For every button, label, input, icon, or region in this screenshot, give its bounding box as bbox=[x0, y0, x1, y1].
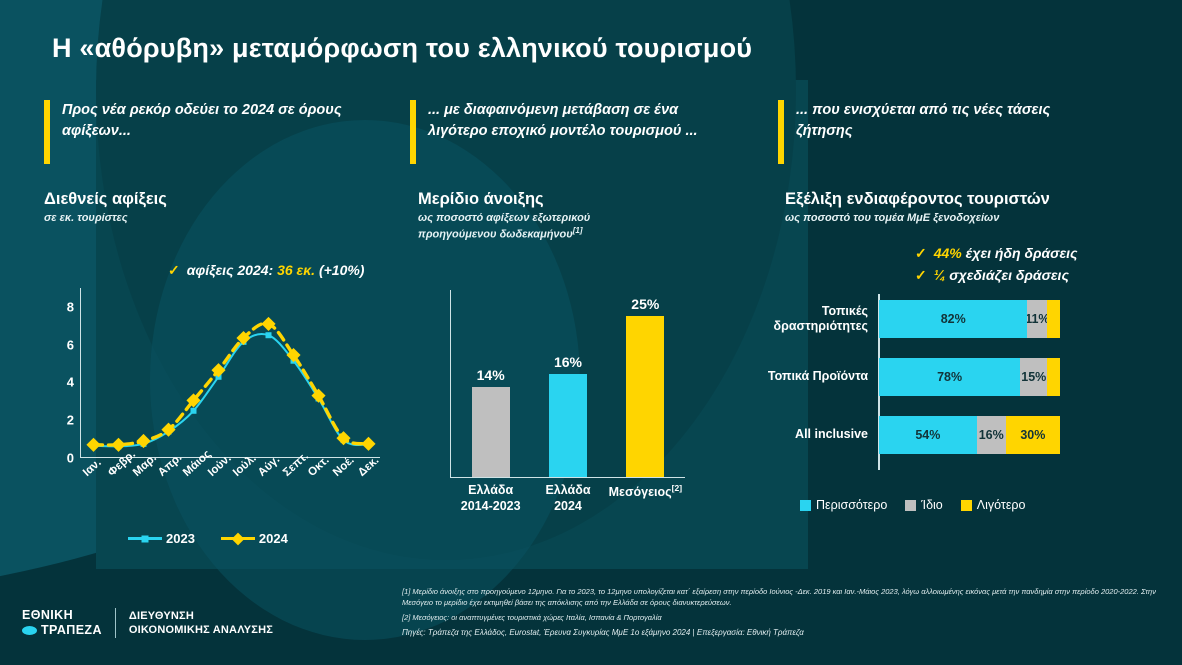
panel-subtitle: ως ποσοστό του τομέα ΜμΕ ξενοδοχείων bbox=[785, 211, 1050, 226]
bar-category-text: Μεσόγειος bbox=[609, 485, 672, 499]
annotation-highlight: 44% bbox=[934, 245, 962, 261]
ellipse-icon bbox=[22, 626, 37, 635]
legend-label: Λιγότερο bbox=[977, 498, 1026, 512]
annotation-highlight: ¼ bbox=[934, 267, 946, 283]
stacked-bar-segment-Ίδιο[interactable]: 15% bbox=[1020, 358, 1047, 396]
bar-chart-spring-share: 14%16%25% bbox=[450, 288, 685, 478]
callout-seasonality: ... με διαφαινόμενη μετάβαση σε ένα λιγό… bbox=[410, 100, 733, 164]
annotation-post: (+10%) bbox=[315, 262, 364, 278]
panel-title: Διεθνείς αφίξεις bbox=[44, 190, 167, 209]
callout-text: ... με διαφαινόμενη μετάβαση σε ένα λιγό… bbox=[428, 100, 733, 142]
panel-subtitle: σε εκ. τουρίστες bbox=[44, 211, 167, 226]
stacked-chart-legend: ΠερισσότεροΊδιοΛιγότερο bbox=[800, 498, 1025, 512]
panel-subtitle-line1: ως ποσοστό αφίξεων εξωτερικού bbox=[418, 212, 590, 224]
bar-column[interactable]: 25% bbox=[626, 291, 664, 477]
bar-category-label: Μεσόγειος[2] bbox=[607, 483, 684, 514]
logo-department: ΔΙΕΥΘΥΝΣΗ ΟΙΚΟΝΟΜΙΚΗΣ ΑΝΑΛΥΣΗΣ bbox=[129, 609, 273, 638]
stacked-bar-track: 78%15% bbox=[878, 358, 1060, 396]
bar-chart-bars: 14%16%25% bbox=[452, 291, 684, 477]
legend-label: Περισσότερο bbox=[816, 498, 887, 512]
stacked-bar-segment-Ίδιο[interactable]: 11% bbox=[1027, 300, 1047, 338]
callout-text: Προς νέα ρεκόρ οδεύει το 2024 σε όρους α… bbox=[62, 100, 367, 142]
legend-color-swatch bbox=[905, 500, 916, 511]
legend-item-Λιγότερο[interactable]: Λιγότερο bbox=[961, 498, 1026, 512]
callout-text: ... που ενισχύεται από τις νέες τάσεις ζ… bbox=[796, 100, 1101, 142]
bar-rect[interactable] bbox=[626, 316, 664, 476]
data-point-marker bbox=[136, 434, 150, 448]
line-chart-svg bbox=[81, 288, 381, 458]
check-icon: ✓ bbox=[168, 260, 180, 282]
line-chart-plot-area bbox=[80, 288, 380, 458]
logo-line2: ΤΡΑΠΕΖΑ bbox=[41, 623, 102, 638]
panel-title: Εξέλιξη ενδιαφέροντος τουριστών bbox=[785, 190, 1050, 209]
data-point-marker bbox=[266, 332, 272, 338]
line-series-2023 bbox=[94, 334, 369, 446]
line-chart-arrivals: 02468 bbox=[48, 288, 388, 468]
logo-line1: ΕΘΝΙΚΗ bbox=[22, 608, 102, 623]
stacked-bar-chart-interest: Τοπικέςδραστηριότητες82%11%Τοπικά Προϊόν… bbox=[760, 300, 1070, 470]
stacked-bar-segment-Ίδιο[interactable]: 16% bbox=[977, 416, 1006, 454]
panel-title: Μερίδιο άνοιξης bbox=[418, 190, 590, 209]
stacked-bar-category-label: All inclusive bbox=[760, 427, 878, 442]
stacked-bar-segment-Λιγότερο[interactable] bbox=[1047, 300, 1060, 338]
callout-accent-bar bbox=[44, 100, 50, 164]
annotation-row: ✓ ¼ σχεδιάζει δράσεις bbox=[915, 265, 1078, 287]
y-axis-tick-label: 0 bbox=[67, 451, 74, 466]
data-point-marker bbox=[191, 408, 197, 414]
annotation-text: αφίξεις 2024: 36 εκ. (+10%) bbox=[187, 260, 365, 282]
legend-color-swatch bbox=[961, 500, 972, 511]
bar-category-label: Ελλάδα2014-2023 bbox=[452, 483, 529, 514]
legend-label: 2024 bbox=[259, 531, 288, 546]
bar-category-label: Ελλάδα2024 bbox=[529, 483, 606, 514]
bar-chart-categories: Ελλάδα2014-2023Ελλάδα2024Μεσόγειος[2] bbox=[452, 483, 684, 514]
bar-value-label: 25% bbox=[631, 296, 659, 312]
callout-demand: ... που ενισχύεται από τις νέες τάσεις ζ… bbox=[778, 100, 1101, 164]
annotation-arrivals: ✓ αφίξεις 2024: 36 εκ. (+10%) bbox=[168, 260, 364, 282]
annotation-text: 44% έχει ήδη δράσεις bbox=[934, 243, 1078, 265]
line-chart-x-axis: Ιαν.Φεβρ.Μαρ.Απρ.ΜάιοςΙούν.Ιούλ.Αύγ.Σεπτ… bbox=[80, 470, 380, 525]
stacked-bar-category-label: Τοπικέςδραστηριότητες bbox=[760, 304, 878, 335]
stacked-bar-segment-Λιγότερο[interactable] bbox=[1047, 358, 1060, 396]
logo-divider bbox=[115, 608, 116, 638]
callout-arrivals: Προς νέα ρεκόρ οδεύει το 2024 σε όρους α… bbox=[44, 100, 367, 164]
stacked-bar-row: All inclusive54%16%30% bbox=[760, 416, 1070, 454]
bar-value-label: 16% bbox=[554, 354, 582, 370]
y-axis-tick-label: 8 bbox=[67, 299, 74, 314]
y-axis-tick-label: 4 bbox=[67, 375, 74, 390]
annotation-row: ✓ 44% έχει ήδη δράσεις bbox=[915, 243, 1078, 265]
annotation-row: ✓ αφίξεις 2024: 36 εκ. (+10%) bbox=[168, 260, 364, 282]
annotation-post: έχει ήδη δράσεις bbox=[962, 245, 1078, 261]
footnote-2: [2] Μεσόγειος: οι αναπτυγμένες τουριστικ… bbox=[402, 612, 1170, 623]
legend-label: 2023 bbox=[166, 531, 195, 546]
legend-label: Ίδιο bbox=[921, 498, 942, 512]
data-point-marker bbox=[361, 437, 375, 451]
y-axis-tick-label: 2 bbox=[67, 413, 74, 428]
callout-accent-bar bbox=[410, 100, 416, 164]
logo-line2-wrap: ΤΡΑΠΕΖΑ bbox=[22, 623, 102, 638]
legend-line-swatch bbox=[128, 537, 162, 540]
legend-item-Ίδιο[interactable]: Ίδιο bbox=[905, 498, 942, 512]
organization-logo: ΕΘΝΙΚΗ ΤΡΑΠΕΖΑ ΔΙΕΥΘΥΝΣΗ ΟΙΚΟΝΟΜΙΚΗΣ ΑΝΑ… bbox=[22, 608, 273, 638]
bar-rect[interactable] bbox=[472, 387, 510, 477]
stacked-bar-segment-Λιγότερο[interactable]: 30% bbox=[1006, 416, 1060, 454]
panel-heading-tourist-interest: Εξέλιξη ενδιαφέροντος τουριστών ως ποσοσ… bbox=[785, 190, 1050, 226]
bar-column[interactable]: 14% bbox=[472, 291, 510, 477]
stacked-bar-segment-Περισσότερο[interactable]: 82% bbox=[879, 300, 1027, 338]
data-point-marker bbox=[111, 438, 125, 452]
legend-item-2024[interactable]: 2024 bbox=[221, 531, 288, 546]
y-axis-labels: 02468 bbox=[48, 288, 74, 458]
legend-item-Περισσότερο[interactable]: Περισσότερο bbox=[800, 498, 887, 512]
y-axis-tick-label: 6 bbox=[67, 337, 74, 352]
check-icon: ✓ bbox=[915, 265, 927, 287]
stacked-bar-category-label: Τοπικά Προϊόντα bbox=[760, 369, 878, 384]
footnote-marker-1: [1] bbox=[573, 226, 583, 235]
annotation-post: σχεδιάζει δράσεις bbox=[945, 267, 1068, 283]
footnote-1: [1] Μερίδιο άνοιξης στο προηγούμενο 12μη… bbox=[402, 586, 1170, 609]
stacked-bar-row: Τοπικά Προϊόντα78%15% bbox=[760, 358, 1070, 396]
legend-line-swatch bbox=[221, 537, 255, 541]
bar-rect[interactable] bbox=[549, 374, 587, 477]
line-series-2024 bbox=[94, 323, 369, 445]
annotation-highlight: 36 εκ. bbox=[277, 262, 315, 278]
legend-color-swatch bbox=[800, 500, 811, 511]
legend-item-2023[interactable]: 2023 bbox=[128, 531, 195, 546]
annotation-pre: αφίξεις 2024: bbox=[187, 262, 277, 278]
legend-marker bbox=[142, 535, 149, 542]
stacked-bar-segment-Περισσότερο[interactable]: 54% bbox=[879, 416, 977, 454]
callout-accent-bar bbox=[778, 100, 784, 164]
slide-root: Η «αθόρυβη» μεταμόρφωση του ελληνικού το… bbox=[0, 0, 1182, 665]
panel-heading-arrivals: Διεθνείς αφίξεις σε εκ. τουρίστες bbox=[44, 190, 167, 226]
stacked-bar-track: 54%16%30% bbox=[878, 416, 1060, 454]
bar-value-label: 14% bbox=[477, 367, 505, 383]
line-chart-legend: 20232024 bbox=[128, 531, 288, 546]
department-line2: ΟΙΚΟΝΟΜΙΚΗΣ ΑΝΑΛΥΣΗΣ bbox=[129, 623, 273, 637]
stacked-bar-row: Τοπικέςδραστηριότητες82%11% bbox=[760, 300, 1070, 338]
department-line1: ΔΙΕΥΘΥΝΣΗ bbox=[129, 609, 273, 623]
footer-source: Πηγές: Τράπεζα της Ελλάδος, Eurostat, Έρ… bbox=[402, 627, 1170, 639]
check-icon: ✓ bbox=[915, 243, 927, 265]
legend-marker bbox=[232, 532, 245, 545]
annotation-text: ¼ σχεδιάζει δράσεις bbox=[934, 265, 1069, 287]
bar-column[interactable]: 16% bbox=[549, 291, 587, 477]
logo-bank-name: ΕΘΝΙΚΗ ΤΡΑΠΕΖΑ bbox=[22, 608, 102, 638]
footnote-marker-2: [2] bbox=[672, 483, 682, 493]
footer-notes: [1] Μερίδιο άνοιξης στο προηγούμενο 12μη… bbox=[402, 586, 1170, 639]
panel-heading-spring-share: Μερίδιο άνοιξης ως ποσοστό αφίξεων εξωτε… bbox=[418, 190, 590, 242]
stacked-bar-track: 82%11% bbox=[878, 300, 1060, 338]
annotation-interest: ✓ 44% έχει ήδη δράσεις ✓ ¼ σχεδιάζει δρά… bbox=[915, 243, 1078, 286]
data-point-marker bbox=[86, 438, 100, 452]
panel-subtitle: ως ποσοστό αφίξεων εξωτερικού προηγούμεν… bbox=[418, 211, 590, 242]
stacked-bar-segment-Περισσότερο[interactable]: 78% bbox=[879, 358, 1020, 396]
panel-subtitle-line2: προηγούμενου δωδεκαμήνου bbox=[418, 229, 573, 241]
page-title: Η «αθόρυβη» μεταμόρφωση του ελληνικού το… bbox=[52, 33, 752, 64]
